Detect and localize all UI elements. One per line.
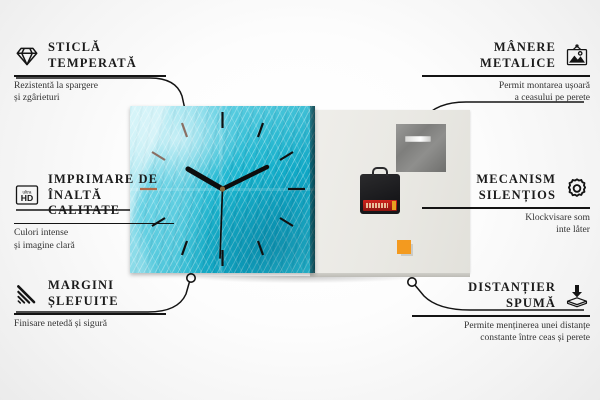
- gear-icon: [564, 175, 590, 201]
- feature-title: IMPRIMARE DE ÎNALTĂ CALITATE: [48, 172, 174, 219]
- feature-silent-mechanism: MECANISM SILENȚIOS Klockvisare som inte …: [422, 172, 590, 237]
- feature-header: MECANISM SILENȚIOS: [422, 172, 590, 203]
- clock-center-cap: [220, 186, 225, 191]
- feature-header: STICLĂ TEMPERATĂ: [14, 40, 166, 71]
- feature-hd-print: ultra HD IMPRIMARE DE ÎNALTĂ CALITATE Cu…: [14, 172, 174, 252]
- feature-divider: [422, 207, 590, 209]
- feature-tempered-glass: STICLĂ TEMPERATĂ Rezistentă la spargere …: [14, 40, 166, 105]
- feature-description: Finisare netedă și sigură: [14, 318, 166, 331]
- feature-divider: [422, 75, 590, 77]
- feature-description: Permit montarea ușoară a ceasului pe per…: [422, 80, 590, 105]
- foam-spacer-pad: [397, 240, 411, 254]
- feature-title: MECANISM SILENȚIOS: [476, 172, 556, 203]
- feature-metal-handles: MÂNERE METALICE Permit montarea ușoară a…: [422, 40, 590, 105]
- feature-divider: [412, 315, 590, 317]
- feature-header: DISTANȚIER SPUMĂ: [412, 280, 590, 311]
- feature-divider: [14, 75, 166, 77]
- feature-header: ultra HD IMPRIMARE DE ÎNALTĂ CALITATE: [14, 172, 174, 219]
- feature-title: MARGINI ȘLEFUITE: [48, 278, 119, 309]
- arrow-onto-layers-icon: [564, 283, 590, 309]
- feature-title: MÂNERE METALICE: [480, 40, 556, 71]
- hanger-slot: [405, 136, 431, 142]
- metal-hanger-bracket: [396, 124, 446, 172]
- feature-title: DISTANȚIER SPUMĂ: [468, 280, 556, 311]
- feature-polished-edges: MARGINI ȘLEFUITE Finisare netedă și sigu…: [14, 278, 166, 330]
- feature-divider: [14, 313, 166, 315]
- feature-title: STICLĂ TEMPERATĂ: [48, 40, 137, 71]
- feature-description: Klockvisare som inte låter: [422, 212, 590, 237]
- battery-terminal: [392, 201, 396, 210]
- clock-mechanism-box: [360, 174, 400, 214]
- ultra-hd-icon: ultra HD: [14, 182, 40, 208]
- infographic-canvas: STICLĂ TEMPERATĂ Rezistentă la spargere …: [0, 0, 600, 400]
- feature-description: Permite menținerea unei distanțe constan…: [412, 320, 590, 345]
- battery: [363, 200, 397, 211]
- diamond-icon: [14, 43, 40, 69]
- glass-edge-highlight: [310, 106, 315, 273]
- picture-hanger-icon: [564, 43, 590, 69]
- diagonal-lines-icon: [14, 281, 40, 307]
- battery-label: [366, 203, 388, 208]
- feature-header: MÂNERE METALICE: [422, 40, 590, 71]
- clock-second-hand: [220, 189, 223, 258]
- feature-header: MARGINI ȘLEFUITE: [14, 278, 166, 309]
- mechanism-hook: [372, 167, 388, 176]
- feature-description: Culori intense și imagine clară: [14, 227, 174, 252]
- clock-minute-hand: [223, 167, 268, 189]
- clock-hour-hand: [188, 169, 223, 189]
- product-photo: [130, 106, 470, 280]
- feature-foam-spacer: DISTANȚIER SPUMĂ Permite menținerea unei…: [412, 280, 590, 345]
- svg-text:HD: HD: [21, 193, 33, 203]
- feature-description: Rezistentă la spargere și zgârieturi: [14, 80, 166, 105]
- feature-divider: [14, 223, 174, 225]
